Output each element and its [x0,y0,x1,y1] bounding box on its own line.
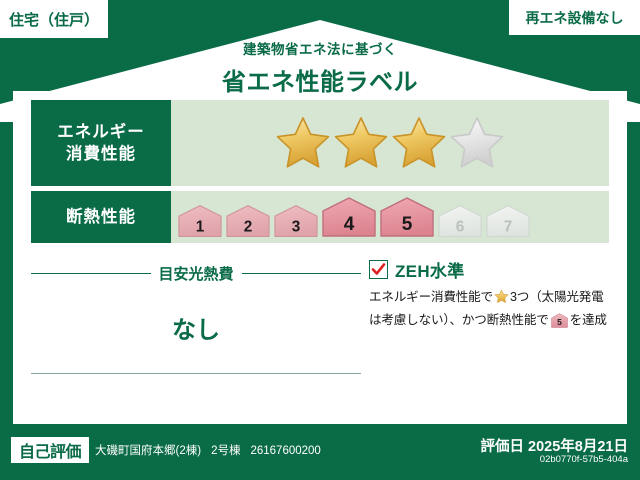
insulation-performance-row: 断熱性能 1234567 [31,191,609,243]
evaluation-date: 評価日 2025年8月21日 [481,435,628,456]
property-address: 大磯町国府本郷(2棟)2号棟26167600200 [95,442,321,458]
page-title-main: 省エネ性能ラベル [0,62,640,97]
badge-renewable-energy: 再エネ設備なし [509,0,640,35]
house-level-active-icon: 2 [225,204,271,238]
utility-cost-heading-text: 目安光熱費 [159,263,234,284]
house-level-active-icon: 4 [321,196,377,238]
page-title: 建築物省エネ法に基づく 省エネ性能ラベル [0,38,640,97]
footer: 自己評価 大磯町国府本郷(2棟)2号棟26167600200 評価日 2025年… [0,424,640,480]
self-evaluation-label: 自己評価 [19,438,81,462]
svg-text:1: 1 [196,219,205,236]
building-text: 2号棟 [211,445,240,457]
badge-renewable-energy-label: 再エネ設備なし [526,8,624,28]
svg-text:2: 2 [244,219,253,236]
inline-star-icon [494,293,509,307]
property-code: 26167600200 [250,445,320,457]
svg-text:6: 6 [456,219,465,236]
energy-label-line2: 消費性能 [66,143,136,165]
zeh-block: ZEH水準 エネルギー消費性能で3つ（太陽光発電は考慮しない）、かつ断熱性能で5… [369,257,631,334]
energy-performance-label: エネルギー 消費性能 [31,100,171,186]
svg-text:5: 5 [402,214,413,235]
zeh-desc-part3: は考慮しない）、かつ断熱性能で [369,313,549,327]
energy-label-line1: エネルギー [57,121,145,143]
inline-house-icon: 5 [551,317,568,331]
utility-cost-block: 目安光熱費 なし [31,263,361,345]
star-filled-icon [275,115,331,171]
svg-text:5: 5 [557,317,562,327]
house-level-active-icon: 3 [273,204,319,238]
insulation-label-text: 断熱性能 [66,206,136,228]
star-empty-icon [449,115,505,171]
utility-cost-value: なし [31,310,361,345]
svg-text:3: 3 [292,219,301,236]
zeh-title: ZEH水準 [395,257,465,282]
zeh-checkbox[interactable] [369,260,388,279]
house-level-inactive-icon: 6 [437,204,483,238]
star-rating [275,115,505,171]
zeh-heading: ZEH水準 [369,257,631,282]
house-level-active-icon: 1 [177,204,223,238]
heading-rule-right [242,273,362,274]
insulation-performance-value: 1234567 [171,191,609,243]
evaluation-id: 02b0770f-57b5-404a [540,454,628,465]
address-text: 大磯町国府本郷(2棟) [95,445,201,457]
badge-housing-type: 住宅（住戸） [0,0,108,38]
page-subtitle: 建築物省エネ法に基づく [0,38,640,58]
energy-performance-value [171,100,609,186]
house-level-active-icon: 5 [379,196,435,238]
zeh-description: エネルギー消費性能で3つ（太陽光発電は考慮しない）、かつ断熱性能で5を達成 [369,288,631,334]
zeh-desc-part1: エネルギー消費性能で [369,290,493,304]
star-filled-icon [333,115,389,171]
svg-text:4: 4 [344,214,355,235]
label-panel: エネルギー 消費性能 断熱性能 1234567 目安光熱費 なし [13,91,627,424]
zeh-desc-part4: を達成 [570,313,607,327]
house-level-inactive-icon: 7 [485,204,531,238]
star-filled-icon [391,115,447,171]
svg-text:7: 7 [504,219,513,236]
heading-rule-left [31,273,151,274]
energy-performance-row: エネルギー 消費性能 [31,100,609,186]
badge-housing-type-label: 住宅（住戸） [9,9,99,30]
self-evaluation-badge: 自己評価 [11,437,89,463]
check-icon [371,262,386,277]
insulation-performance-label: 断熱性能 [31,191,171,243]
house-level-scale: 1234567 [171,196,531,238]
utility-cost-divider [31,373,361,374]
utility-cost-heading: 目安光熱費 [31,263,361,284]
zeh-desc-part2: 3つ（太陽光発電 [510,290,604,304]
bottom-section: 目安光熱費 なし ZEH水準 エネルギー消費性能で3つ（太陽光発電は考慮しない）… [31,251,609,441]
